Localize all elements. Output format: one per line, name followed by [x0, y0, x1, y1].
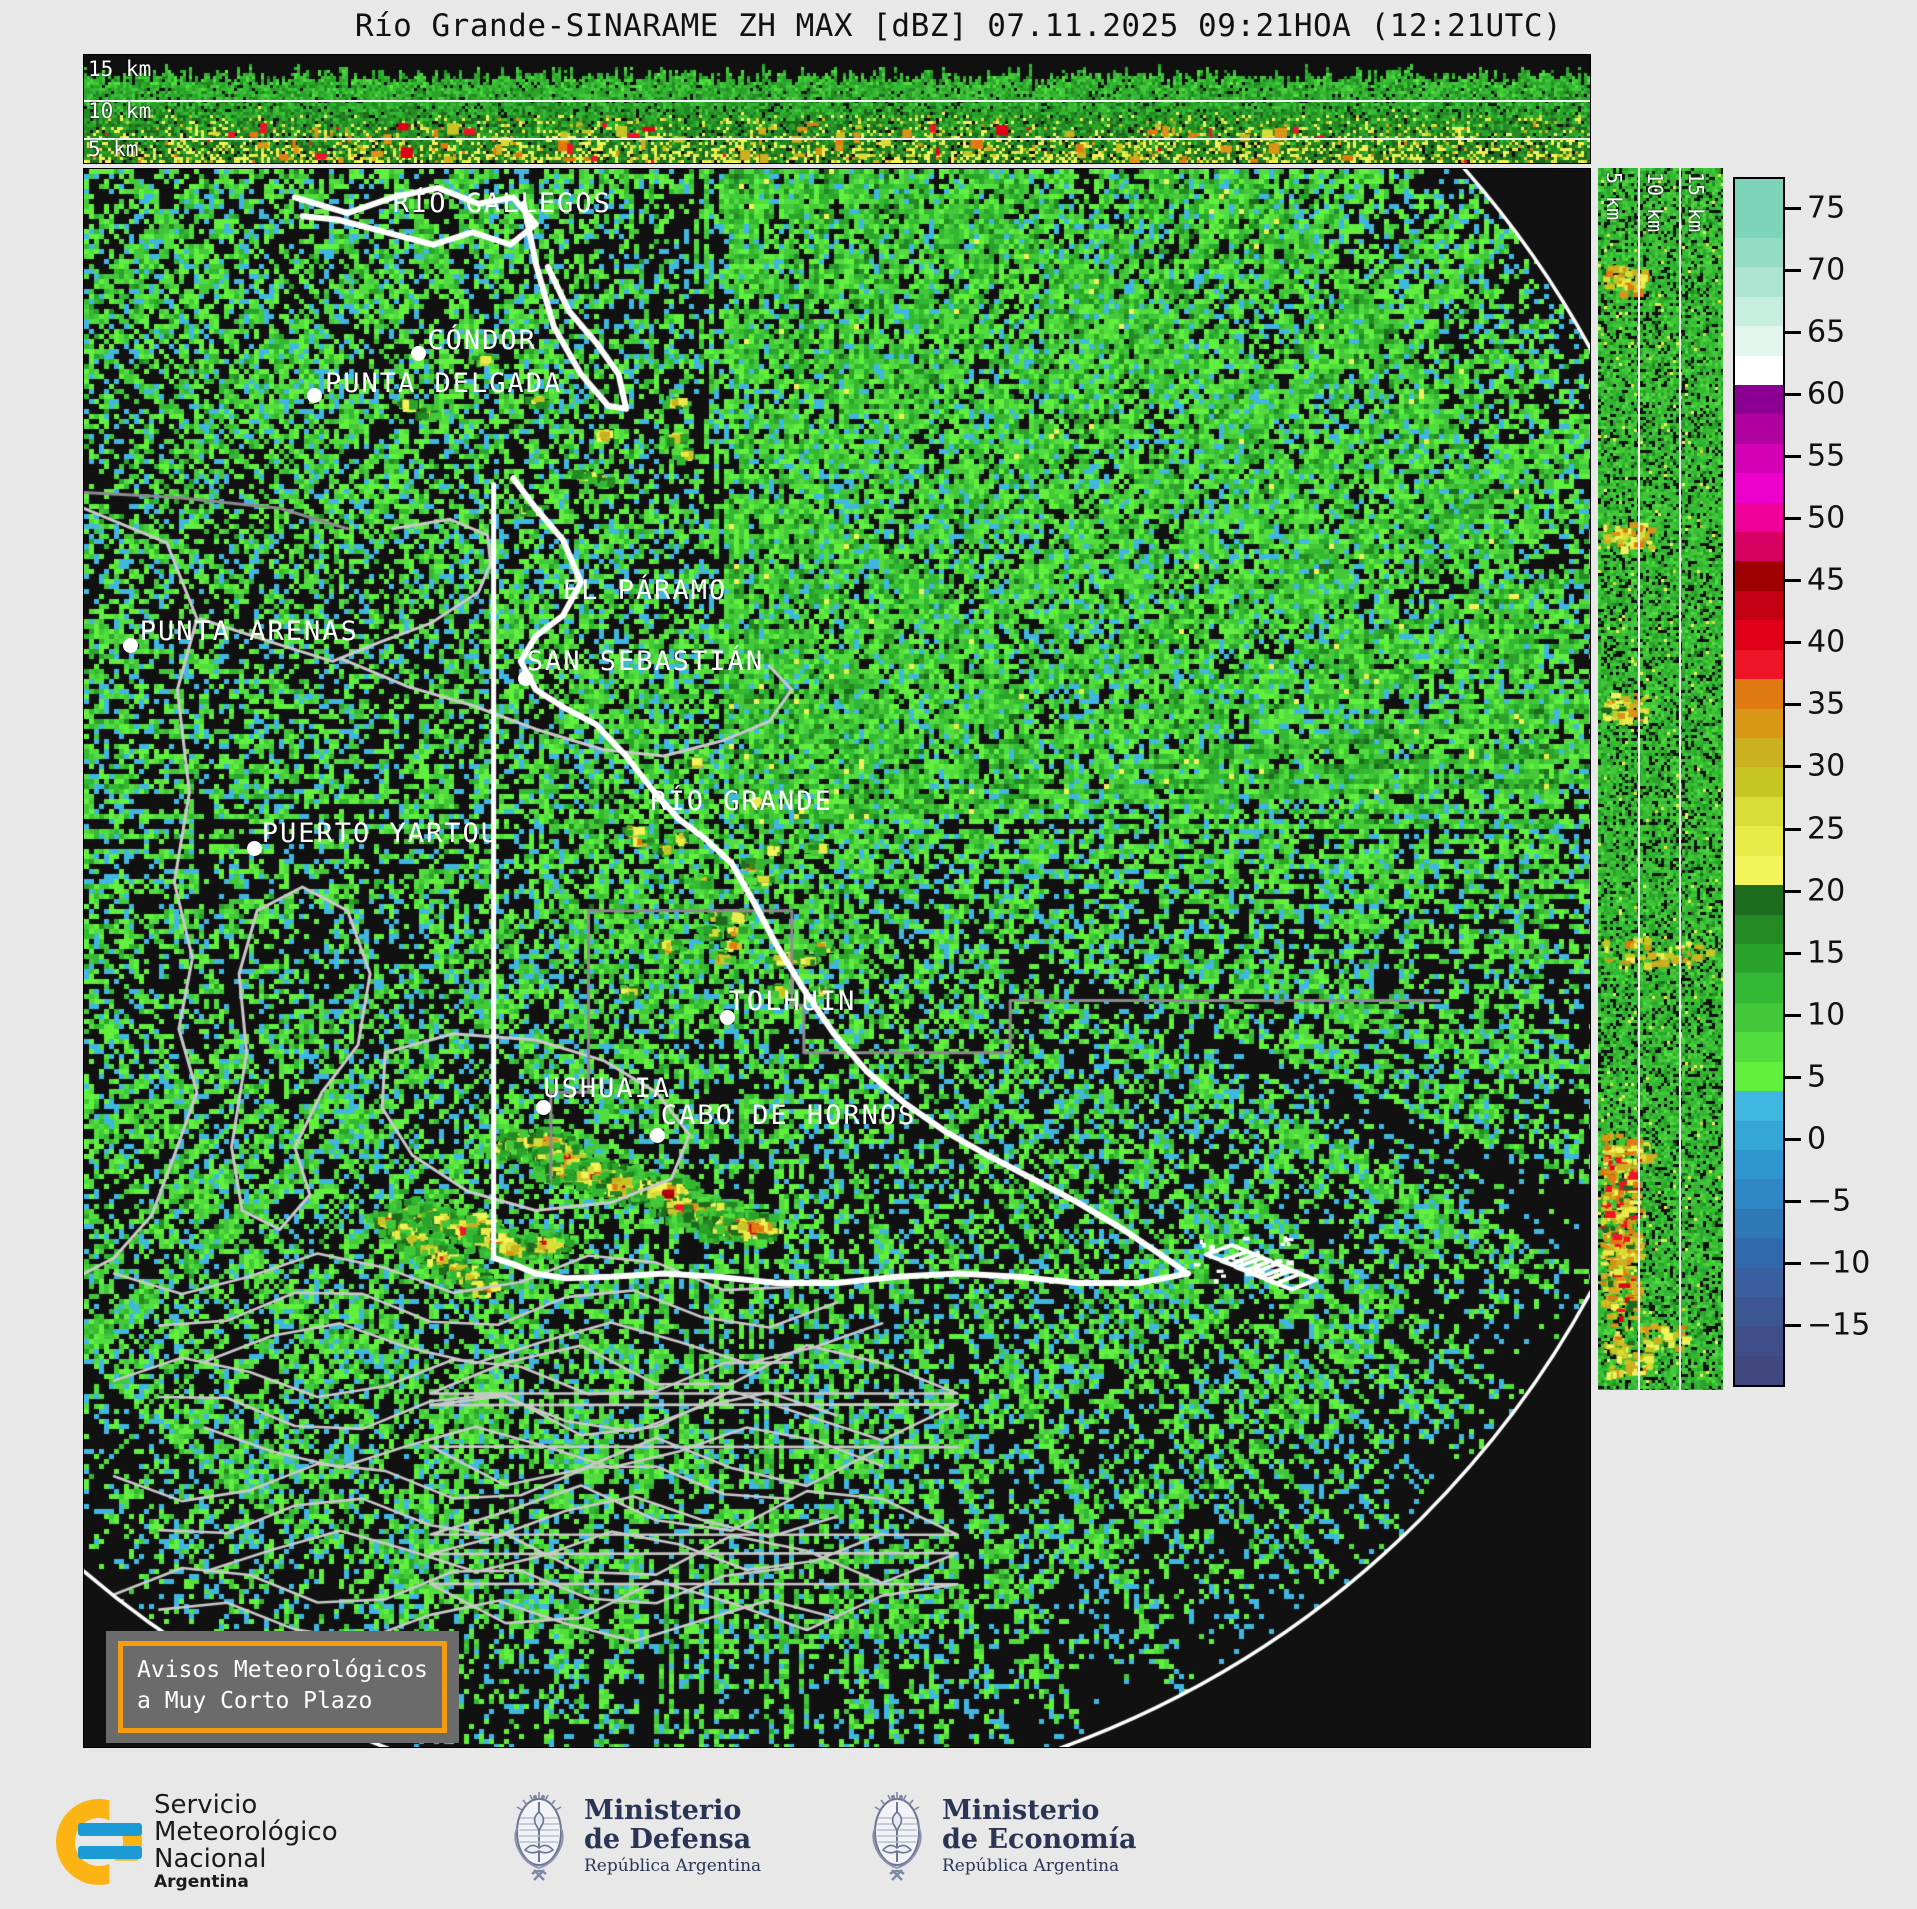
colorbar-segment-11 [1735, 503, 1783, 532]
colorbar-tick-15 [1785, 952, 1801, 955]
colorbar-segment-5 [1735, 326, 1783, 355]
colorbar-tick-label-50: 50 [1807, 501, 1845, 536]
colorbar-tick-50 [1785, 517, 1801, 520]
smn-line-3: Nacional [154, 1846, 338, 1873]
colorbar-segment-3 [1735, 267, 1783, 296]
colorbar-tick--5 [1785, 1200, 1801, 1203]
colorbar-tick-40 [1785, 641, 1801, 644]
colorbar-tick-label-75: 75 [1807, 191, 1845, 226]
colorbar-tick-label-45: 45 [1807, 563, 1845, 598]
map-dot-ushuaia [536, 1100, 551, 1115]
smn-sub: Argentina [154, 1874, 338, 1892]
map-dot-tolhuin [720, 1010, 735, 1025]
argentina-coat-of-arms-icon [508, 1788, 570, 1884]
colorbar-tick-label--15: −15 [1807, 1307, 1870, 1342]
colorbar-segment-2 [1735, 238, 1783, 267]
colorbar-tick-35 [1785, 703, 1801, 706]
colorbar-tick-label-20: 20 [1807, 873, 1845, 908]
colorbar-segment-12 [1735, 532, 1783, 561]
colorbar-segment-30 [1735, 1062, 1783, 1091]
colorbar-segment-38 [1735, 1297, 1783, 1326]
colorbar-tick--10 [1785, 1262, 1801, 1265]
map-dot-punta-arenas [123, 638, 138, 653]
vheight-label-15km: 15 km [1684, 172, 1708, 232]
map-dot-san-sebasti-n [518, 671, 533, 686]
radar-map-panel[interactable]: RÍO GALLEGOSCÓNDORPUNTA DELGADAPUNTA ARE… [83, 168, 1591, 1748]
colorbar-segment-23 [1735, 856, 1783, 885]
height-label-15km: 15 km [88, 57, 151, 81]
colorbar-tick-70 [1785, 269, 1801, 272]
colorbar-tick-label--5: −5 [1807, 1183, 1851, 1218]
colorbar-segment-36 [1735, 1238, 1783, 1267]
colorbar-segment-35 [1735, 1209, 1783, 1238]
colorbar-tick--15 [1785, 1324, 1801, 1327]
colorbar-tick-label-70: 70 [1807, 253, 1845, 288]
top-cross-section-panel: 15 km 10 km 5 km [83, 54, 1591, 164]
colorbar-tick-5 [1785, 1076, 1801, 1079]
colorbar-segment-7 [1735, 385, 1783, 414]
colorbar-tick-60 [1785, 393, 1801, 396]
colorbar-tick-25 [1785, 828, 1801, 831]
colorbar-segment-21 [1735, 797, 1783, 826]
colorbar-segment-34 [1735, 1179, 1783, 1208]
colorbar-tick-label-35: 35 [1807, 687, 1845, 722]
colorbar-ticks: 757065605550454035302520151050−5−10−15 [1785, 177, 1915, 1387]
argentina-coat-of-arms-icon-2 [866, 1788, 928, 1884]
colorbar-segment-19 [1735, 738, 1783, 767]
colorbar-segment-40 [1735, 1356, 1783, 1385]
map-dot-c-ndor [411, 346, 426, 361]
colorbar-segment-32 [1735, 1121, 1783, 1150]
map-dot-puerto-yartou [247, 841, 262, 856]
colorbar-segment-24 [1735, 885, 1783, 914]
colorbar-tick-label-25: 25 [1807, 811, 1845, 846]
colorbar-tick-label-15: 15 [1807, 935, 1845, 970]
colorbar-segment-33 [1735, 1150, 1783, 1179]
avisos-badge: Avisos Meteorológicosa Muy Corto Plazo [106, 1631, 459, 1743]
smn-logo-icon [56, 1799, 142, 1885]
colorbar-tick-65 [1785, 331, 1801, 334]
colorbar-segment-14 [1735, 591, 1783, 620]
colorbar-tick-label-65: 65 [1807, 315, 1845, 350]
colorbar-tick-label-10: 10 [1807, 997, 1845, 1032]
logo-smn: Servicio Meteorológico Nacional Argentin… [56, 1792, 338, 1892]
vertical-sep-2 [1679, 168, 1681, 1390]
colorbar-tick-75 [1785, 207, 1801, 210]
colorbar-segment-0 [1735, 179, 1783, 208]
colorbar-segment-25 [1735, 915, 1783, 944]
colorbar-segment-10 [1735, 473, 1783, 502]
vheight-label-10km: 10 km [1643, 172, 1667, 232]
colorbar-tick-30 [1785, 765, 1801, 768]
smn-line-1: Servicio [154, 1792, 338, 1819]
colorbar-tick-20 [1785, 890, 1801, 893]
colorbar [1733, 177, 1785, 1387]
avisos-line-1: Avisos Meteorológicos [137, 1657, 428, 1683]
colorbar-tick-label-30: 30 [1807, 749, 1845, 784]
footer-logos: Servicio Meteorológico Nacional Argentin… [0, 1770, 1917, 1909]
colorbar-segment-37 [1735, 1268, 1783, 1297]
height-line-10km [84, 100, 1590, 102]
colorbar-segment-22 [1735, 826, 1783, 855]
logo-ministerio-economia: Ministerio de Economía República Argenti… [866, 1788, 1136, 1884]
avisos-line-2: a Muy Corto Plazo [137, 1688, 372, 1714]
colorbar-segment-1 [1735, 208, 1783, 237]
colorbar-segment-16 [1735, 650, 1783, 679]
right-cross-section-panel: 5 km 10 km 15 km [1598, 168, 1723, 1390]
height-label-5km: 5 km [88, 137, 139, 161]
defensa-line-1: Ministerio [584, 1796, 761, 1825]
defensa-line-2: de Defensa [584, 1825, 761, 1854]
economia-line-2: de Economía [942, 1825, 1136, 1854]
colorbar-tick-label-60: 60 [1807, 377, 1845, 412]
colorbar-segment-4 [1735, 297, 1783, 326]
colorbar-tick-10 [1785, 1014, 1801, 1017]
colorbar-tick-55 [1785, 455, 1801, 458]
defensa-sub: República Argentina [584, 1857, 761, 1875]
colorbar-segment-15 [1735, 620, 1783, 649]
colorbar-tick-0 [1785, 1138, 1801, 1141]
colorbar-segment-27 [1735, 973, 1783, 1002]
colorbar-segment-28 [1735, 1003, 1783, 1032]
colorbar-segment-18 [1735, 709, 1783, 738]
economia-sub: República Argentina [942, 1857, 1136, 1875]
logo-ministerio-defensa: Ministerio de Defensa República Argentin… [508, 1788, 761, 1884]
economia-line-1: Ministerio [942, 1796, 1136, 1825]
colorbar-segment-20 [1735, 767, 1783, 796]
smn-line-2: Meteorológico [154, 1819, 338, 1846]
colorbar-segment-9 [1735, 444, 1783, 473]
colorbar-segment-17 [1735, 679, 1783, 708]
colorbar-tick-label--10: −10 [1807, 1245, 1870, 1280]
colorbar-tick-label-0: 0 [1807, 1121, 1826, 1156]
colorbar-segment-39 [1735, 1326, 1783, 1355]
page-title: Río Grande-SINARAME ZH MAX [dBZ] 07.11.2… [0, 0, 1917, 52]
colorbar-tick-label-40: 40 [1807, 625, 1845, 660]
colorbar-segment-8 [1735, 414, 1783, 443]
colorbar-segment-13 [1735, 561, 1783, 590]
colorbar-tick-45 [1785, 579, 1801, 582]
colorbar-tick-label-55: 55 [1807, 439, 1845, 474]
colorbar-segment-29 [1735, 1032, 1783, 1061]
vertical-sep-1 [1638, 168, 1640, 1390]
colorbar-segment-6 [1735, 356, 1783, 385]
colorbar-tick-label-5: 5 [1807, 1059, 1826, 1094]
height-label-10km: 10 km [88, 99, 151, 123]
colorbar-segment-31 [1735, 1091, 1783, 1120]
height-line-5km [84, 138, 1590, 140]
avisos-text-box: Avisos Meteorológicosa Muy Corto Plazo [118, 1641, 447, 1733]
vheight-label-5km: 5 km [1602, 172, 1626, 220]
colorbar-segment-26 [1735, 944, 1783, 973]
